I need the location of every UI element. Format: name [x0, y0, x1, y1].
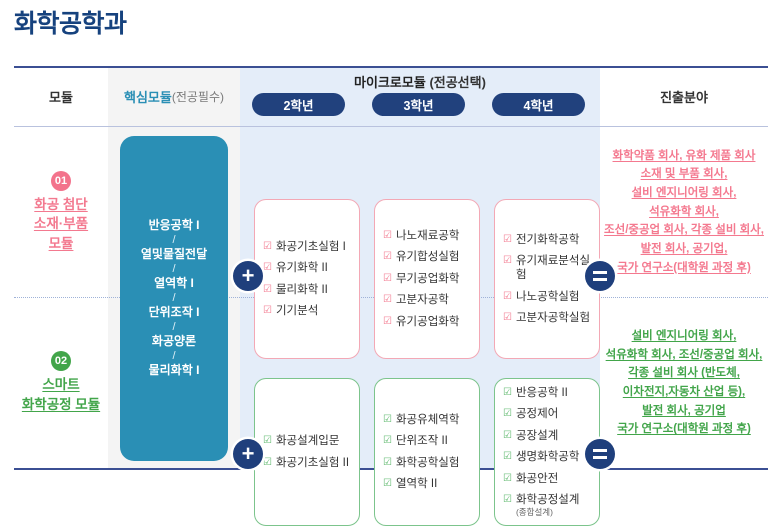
course-item: ☑무기공업화학	[383, 272, 475, 286]
header-core-main: 핵심모듈	[124, 87, 172, 106]
course-item: ☑유기공업화학	[383, 315, 475, 329]
plus-icon-row2: +	[233, 439, 263, 469]
course-label: 공정제어	[516, 407, 558, 421]
course-item: ☑전기화학공학	[503, 233, 595, 247]
course-label: 화공설계입문	[276, 434, 339, 448]
course-label: 반응공학 II	[516, 386, 568, 400]
check-icon: ☑	[383, 229, 392, 242]
course-item: ☑기기분석	[263, 304, 355, 318]
core-separator-1: /	[172, 234, 175, 247]
check-icon: ☑	[503, 407, 512, 420]
course-item: ☑나노재료공학	[383, 229, 475, 243]
career-cell-row1: 화학약품 회사, 유화 제품 회사 소재 및 부품 회사, 설비 엔지니어링 회…	[600, 127, 768, 297]
core-separator-2: /	[172, 263, 175, 276]
module-name-02-line1: 스마트	[22, 375, 100, 395]
career-text-row2: 설비 엔지니어링 회사, 석유화학 회사, 조선/중공업 회사, 각종 설비 회…	[606, 327, 763, 439]
check-icon: ☑	[503, 254, 512, 267]
year-pill-2[interactable]: 2학년	[252, 93, 345, 116]
course-label: 공장설계	[516, 429, 558, 443]
header-micro-col: 마이크로모듈 (전공선택) 2학년 3학년 4학년	[240, 67, 600, 126]
course-item: ☑화학공학실험	[383, 456, 475, 470]
core-course-6: 물리화학 I	[149, 363, 200, 379]
course-item: ☑공장설계	[503, 429, 595, 443]
curriculum-page: 화학공학과 모듈 핵심모듈(전공필수) 마이크로모듈 (전공선택) 2학년 3학…	[0, 0, 782, 487]
course-item: ☑물리화학 II	[263, 283, 355, 297]
course-item: ☑공정제어	[503, 407, 595, 421]
course-item: ☑반응공학 II	[503, 386, 595, 400]
course-label: 화공유체역학	[396, 413, 459, 427]
check-icon: ☑	[263, 456, 272, 469]
course-label: 유기공업화학	[396, 315, 459, 329]
core-course-2: 열및물질전달	[141, 247, 207, 263]
table-header: 모듈 핵심모듈(전공필수) 마이크로모듈 (전공선택) 2학년 3학년 4학년 …	[14, 67, 768, 126]
course-label: 물리화학 II	[276, 283, 328, 297]
module-name-01-line1: 화공 첨단	[34, 195, 88, 215]
course-label: 유기재료분석실험	[516, 254, 595, 283]
equals-bar-bottom	[593, 278, 607, 281]
check-icon: ☑	[503, 233, 512, 246]
course-item: ☑화공설계입문	[263, 434, 355, 448]
course-item: ☑화공기초실험 I	[263, 240, 355, 254]
course-item: ☑유기합성실험	[383, 250, 475, 264]
career-line: 발전 회사, 공기업,	[604, 240, 764, 259]
check-icon: ☑	[263, 434, 272, 447]
check-icon: ☑	[503, 450, 512, 463]
course-label: 생명화학공학	[516, 450, 579, 464]
header-module-col: 모듈	[14, 67, 108, 126]
course-item: ☑화공기초실험 II	[263, 456, 355, 470]
career-line: 화학약품 회사, 유화 제품 회사	[604, 147, 764, 166]
check-icon: ☑	[383, 272, 392, 285]
equals-bar-top	[593, 271, 607, 274]
core-separator-4: /	[172, 321, 175, 334]
core-separator-5: /	[172, 350, 175, 363]
year-pill-4[interactable]: 4학년	[492, 93, 585, 116]
micro-card-row1-year2[interactable]: ☑화공기초실험 I ☑유기화학 II ☑물리화학 II ☑기기분석	[254, 199, 360, 359]
check-icon: ☑	[263, 240, 272, 253]
module-badge-01: 01	[51, 171, 71, 191]
course-label: 무기공업화학	[396, 272, 459, 286]
course-item: ☑화공안전	[503, 472, 595, 486]
course-label: 고분자공학실험	[516, 311, 590, 325]
course-item: ☑화학공정설계(종합설계)	[503, 493, 595, 518]
core-course-5: 화공양론	[152, 334, 196, 350]
header-micro-sub: (전공선택)	[429, 75, 486, 90]
check-icon: ☑	[263, 304, 272, 317]
course-label-wrap: 화학공정설계(종합설계)	[516, 493, 579, 518]
course-item: ☑유기재료분석실험	[503, 254, 595, 283]
course-item: ☑열역학 II	[383, 477, 475, 491]
curriculum-table: 모듈 핵심모듈(전공필수) 마이크로모듈 (전공선택) 2학년 3학년 4학년 …	[14, 66, 768, 470]
equals-bar-top	[593, 449, 607, 452]
core-separator-3: /	[172, 292, 175, 305]
equals-bar-bottom	[593, 456, 607, 459]
equals-icon-row2	[585, 439, 615, 469]
course-item: ☑화공유체역학	[383, 413, 475, 427]
check-icon: ☑	[383, 434, 392, 447]
course-label: 유기화학 II	[276, 261, 328, 275]
check-icon: ☑	[503, 386, 512, 399]
course-label: 화학공정설계	[516, 494, 579, 506]
course-item: ☑고분자공학	[383, 293, 475, 307]
year-pill-3[interactable]: 3학년	[372, 93, 465, 116]
course-label: 전기화학공학	[516, 233, 579, 247]
check-icon: ☑	[263, 283, 272, 296]
career-line: 조선/중공업 회사, 각종 설비 회사,	[604, 221, 764, 240]
course-label: 열역학 II	[396, 477, 437, 491]
module-name-02: 스마트 화학공정 모듈	[22, 375, 100, 414]
module-label-02: 02 스마트 화학공정 모듈	[14, 298, 108, 468]
check-icon: ☑	[503, 493, 512, 506]
course-label: 화공기초실험 II	[276, 456, 349, 470]
plus-icon-row1: +	[233, 261, 263, 291]
module-label-01: 01 화공 첨단 소재·부품 모듈	[14, 127, 108, 297]
check-icon: ☑	[383, 456, 392, 469]
check-icon: ☑	[503, 429, 512, 442]
course-item: ☑생명화학공학	[503, 450, 595, 464]
micro-card-row2-year2[interactable]: ☑화공설계입문 ☑화공기초실험 II	[254, 378, 360, 526]
course-item: ☑단위조작 II	[383, 434, 475, 448]
career-line: 발전 회사, 공기업	[606, 402, 763, 421]
core-module-box: 반응공학 I / 열및물질전달 / 열역학 I / 단위조작 I / 화공양론 …	[120, 136, 228, 461]
career-line: 이차전지,자동차 산업 등),	[606, 383, 763, 402]
header-micro-main: 마이크로모듈	[354, 75, 426, 90]
micro-card-row1-year3[interactable]: ☑나노재료공학 ☑유기합성실험 ☑무기공업화학 ☑고분자공학 ☑유기공업화학	[374, 199, 480, 359]
check-icon: ☑	[383, 413, 392, 426]
module-badge-02: 02	[51, 351, 71, 371]
course-item: ☑유기화학 II	[263, 261, 355, 275]
core-course-1: 반응공학 I	[149, 218, 200, 234]
check-icon: ☑	[383, 477, 392, 490]
career-line: 국가 연구소(대학원 과정 후)	[606, 420, 763, 439]
header-core-col: 핵심모듈(전공필수)	[108, 67, 240, 126]
check-icon: ☑	[503, 472, 512, 485]
module-name-01: 화공 첨단 소재·부품 모듈	[34, 195, 88, 254]
check-icon: ☑	[383, 293, 392, 306]
career-line: 국가 연구소(대학원 과정 후)	[604, 259, 764, 278]
core-course-3: 열역학 I	[154, 276, 194, 292]
check-icon: ☑	[263, 261, 272, 274]
course-label: 화공기초실험 I	[276, 240, 346, 254]
career-line: 설비 엔지니어링 회사,	[606, 327, 763, 346]
course-label: 기기분석	[276, 304, 318, 318]
micro-card-row2-year3[interactable]: ☑화공유체역학 ☑단위조작 II ☑화학공학실험 ☑열역학 II	[374, 378, 480, 526]
career-line: 석유화학 회사, 조선/중공업 회사,	[606, 346, 763, 365]
course-item: ☑고분자공학실험	[503, 311, 595, 325]
career-line: 각종 설비 회사 (반도체,	[606, 364, 763, 383]
module-name-01-line2: 소재·부품	[34, 214, 88, 234]
micro-card-row1-year4[interactable]: ☑전기화학공학 ☑유기재료분석실험 ☑나노공학실험 ☑고분자공학실험	[494, 199, 600, 359]
module-name-02-line2: 화학공정 모듈	[22, 395, 100, 415]
career-cell-row2: 설비 엔지니어링 회사, 석유화학 회사, 조선/중공업 회사, 각종 설비 회…	[600, 298, 768, 468]
page-title: 화학공학과	[14, 4, 127, 40]
equals-icon-row1	[585, 261, 615, 291]
course-item: ☑나노공학실험	[503, 290, 595, 304]
check-icon: ☑	[503, 311, 512, 324]
course-label: 화학공학실험	[396, 456, 459, 470]
header-career-col: 진출분야	[600, 67, 768, 126]
course-label: 유기합성실험	[396, 250, 459, 264]
course-label: 단위조작 II	[396, 434, 448, 448]
career-line: 설비 엔지니어링 회사,	[604, 184, 764, 203]
course-label: 나노재료공학	[396, 229, 459, 243]
check-icon: ☑	[383, 250, 392, 263]
year-pill-row: 2학년 3학년 4학년	[240, 93, 600, 119]
header-core-sub: (전공필수)	[172, 88, 224, 105]
career-line: 석유화학 회사,	[604, 203, 764, 222]
check-icon: ☑	[503, 290, 512, 303]
module-name-01-line3: 모듈	[34, 234, 88, 254]
career-line: 소재 및 부품 회사,	[604, 165, 764, 184]
course-label: 나노공학실험	[516, 290, 579, 304]
header-micro-title: 마이크로모듈 (전공선택)	[240, 72, 600, 91]
check-icon: ☑	[383, 315, 392, 328]
course-label: 화공안전	[516, 472, 558, 486]
course-label: 고분자공학	[396, 293, 449, 307]
core-course-4: 단위조작 I	[149, 305, 200, 321]
course-sublabel: (종합설계)	[516, 507, 579, 518]
career-text-row1: 화학약품 회사, 유화 제품 회사 소재 및 부품 회사, 설비 엔지니어링 회…	[604, 147, 764, 277]
